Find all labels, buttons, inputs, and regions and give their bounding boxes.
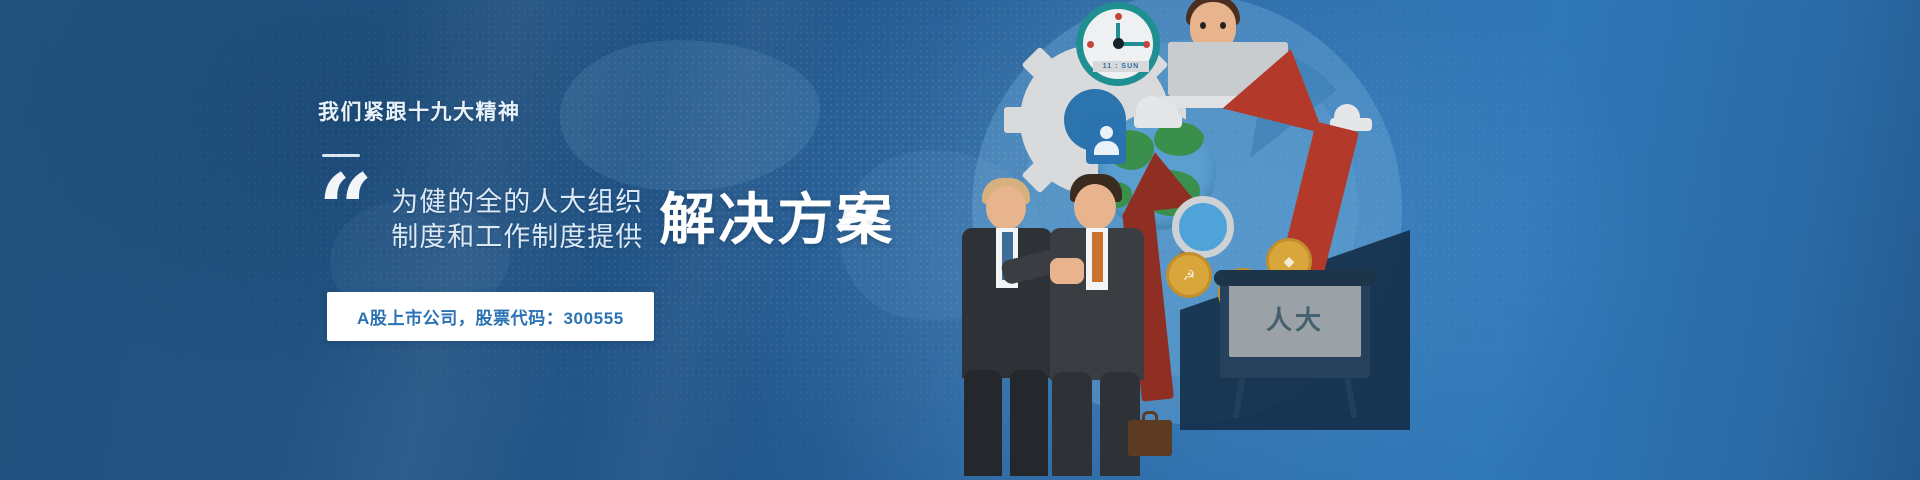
- handshake-illustration: [946, 180, 1206, 480]
- cloud-icon: [1134, 114, 1182, 128]
- stock-info-button[interactable]: A股上市公司，股票代码：300555: [327, 292, 654, 341]
- quote-close-icon: ”: [831, 212, 882, 272]
- quote-open-icon: “: [318, 180, 369, 240]
- handshake-hands: [1050, 258, 1084, 284]
- clock-icon: 11 : SUN: [1076, 2, 1160, 86]
- hero-illustration: 11 : SUN: [930, 0, 1470, 480]
- easel-board-icon: 人大: [1220, 270, 1370, 410]
- clock-date-label: 11 : SUN: [1093, 61, 1149, 72]
- briefcase-icon: [1128, 420, 1172, 456]
- board-label: 人大: [1229, 279, 1361, 357]
- subcopy-text: 为健的全的人大组织 制度和工作制度提供: [391, 185, 643, 258]
- banner-copy: 我们紧跟十九大精神 “ 为健的全的人大组织 制度和工作制度提供 解决方案 ”: [318, 96, 958, 258]
- headline-row: “ 为健的全的人大组织 制度和工作制度提供 解决方案 ”: [318, 175, 958, 258]
- hero-banner: 我们紧跟十九大精神 “ 为健的全的人大组织 制度和工作制度提供 解决方案 ” A…: [0, 0, 1920, 480]
- eyebrow-text: 我们紧跟十九大精神: [318, 96, 958, 126]
